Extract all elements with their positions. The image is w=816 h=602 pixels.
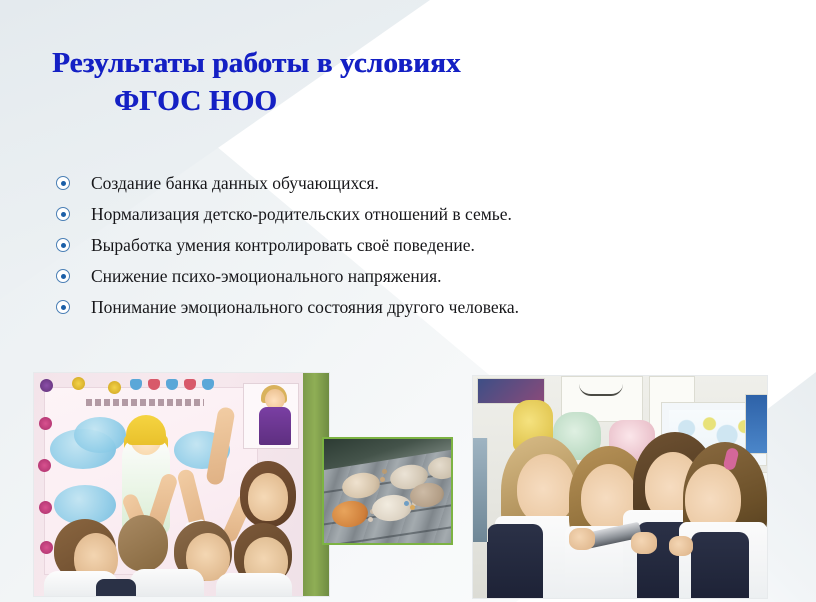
photo-1-flower [40, 379, 53, 392]
photo-1-child-shirt [130, 569, 204, 597]
photo-3-wall-paper-squiggle [579, 384, 623, 396]
slide-canvas: Результаты работы в условиях ФГОС НОО Со… [0, 0, 816, 602]
list-item: Снижение психо-эмоционального напряжения… [56, 263, 776, 294]
title-line-1: Результаты работы в условиях [52, 44, 752, 82]
photo-1-child-face [248, 473, 288, 521]
photo-1-child-shirt [216, 573, 292, 597]
list-item-label: Выработка умения контролировать своё пов… [91, 232, 475, 258]
photo-1-flower [72, 377, 85, 390]
bullseye-bullet-icon [56, 207, 70, 221]
bullseye-bullet-icon [56, 176, 70, 190]
photo-3-girl-uniform [691, 532, 749, 599]
bullet-list: Создание банка данных обучающихся. Норма… [56, 170, 776, 325]
photo-girls-with-device [472, 375, 768, 599]
list-item: Создание банка данных обучающихся. [56, 170, 776, 201]
photo-3-hand [669, 536, 693, 556]
photo-1-side-figure-body [259, 407, 291, 445]
photo-3-left-fragment [473, 438, 488, 542]
photo-1-flower [39, 501, 52, 514]
bullseye-bullet-icon [56, 300, 70, 314]
photo-2-stone-toe [382, 469, 387, 474]
photo-children-at-poster [33, 372, 330, 597]
list-item: Нормализация детско-родительских отношен… [56, 201, 776, 232]
photo-stone-footprints [322, 437, 453, 545]
photo-1-flower [38, 459, 51, 472]
photo-1-poster-caption [86, 399, 204, 406]
bullseye-bullet-icon [56, 238, 70, 252]
photo-3-hand [631, 532, 657, 554]
photo-2-stone-toe [368, 517, 373, 522]
bullseye-bullet-icon [56, 269, 70, 283]
photo-3-hand [569, 528, 595, 550]
list-item: Понимание эмоционального состояния друго… [56, 294, 776, 325]
photo-1-flower [39, 417, 52, 430]
list-item-label: Создание банка данных обучающихся. [91, 170, 379, 196]
photo-3-wall-banner [745, 394, 768, 454]
photo-1-cloud [74, 417, 126, 453]
photo-1-child-hair [118, 515, 168, 571]
photo-3-girl-uniform [487, 524, 543, 599]
list-item: Выработка умения контролировать своё пов… [56, 232, 776, 263]
photo-1-flower [108, 381, 121, 394]
slide-title: Результаты работы в условиях ФГОС НОО [52, 44, 752, 120]
title-line-2: ФГОС НОО [52, 82, 752, 120]
list-item-label: Понимание эмоционального состояния друго… [91, 294, 519, 320]
list-item-label: Нормализация детско-родительских отношен… [91, 201, 512, 227]
photo-1-flower [40, 541, 53, 554]
photo-2-stone-toe [404, 501, 409, 506]
photo-2-stone-toe [380, 477, 385, 482]
photo-3-girl-face [517, 454, 575, 524]
photo-2-stone-toe [410, 505, 415, 510]
list-item-label: Снижение психо-эмоционального напряжения… [91, 263, 442, 289]
photo-1-child-vest [96, 579, 136, 597]
